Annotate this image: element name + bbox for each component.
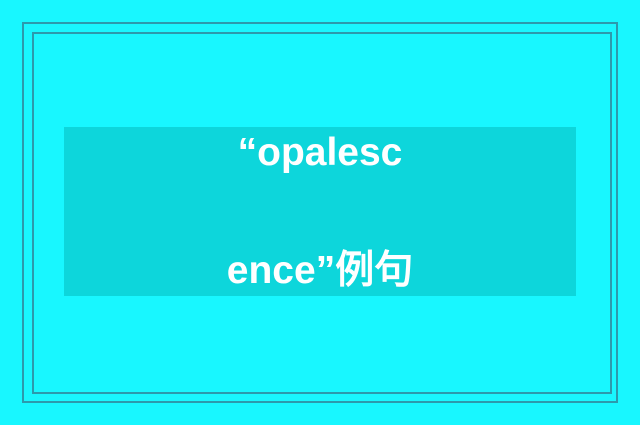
title-text-block: “opalesc ence”例句 <box>64 63 576 359</box>
title-panel: “opalesc ence”例句 <box>64 127 576 296</box>
title-line-2: ence”例句 <box>64 241 576 300</box>
slide-canvas: “opalesc ence”例句 <box>0 0 640 425</box>
title-line-1: “opalesc <box>64 123 576 182</box>
